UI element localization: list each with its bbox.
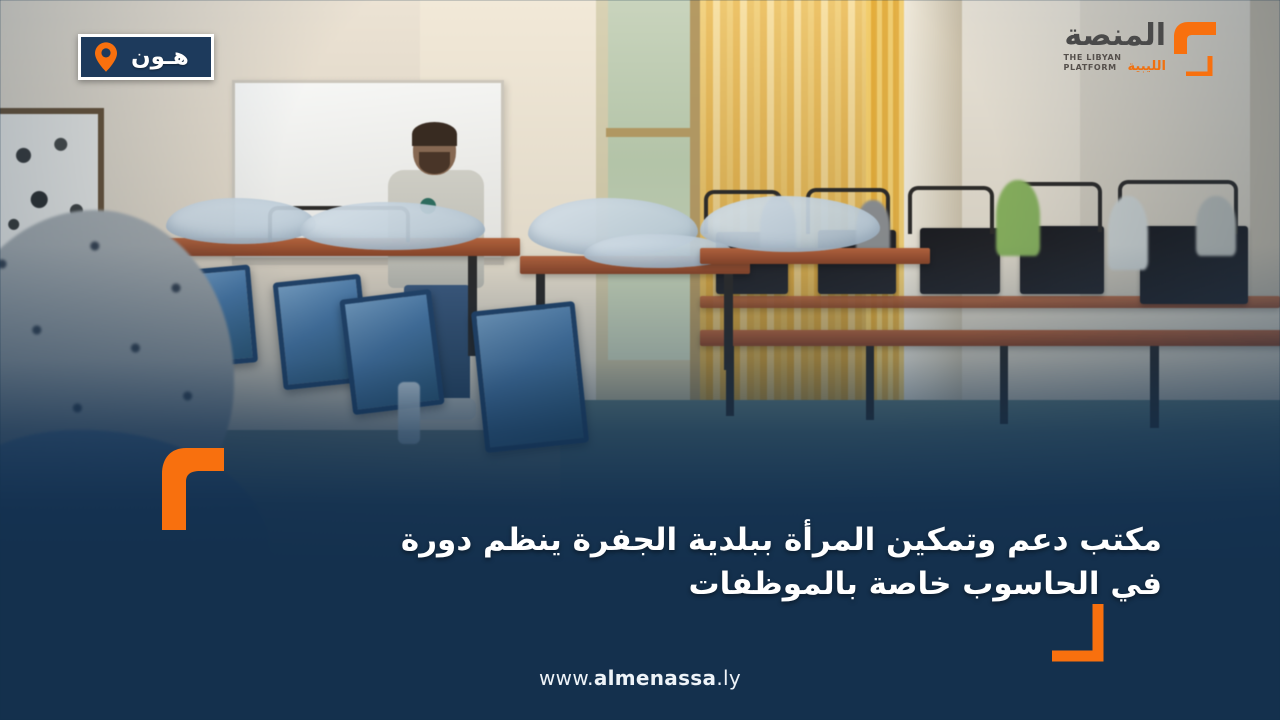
logo-arabic-sub: الليبية — [1128, 60, 1166, 73]
brand-logo: المنصة THE LIBYAN PLATFORM الليبية — [1063, 18, 1222, 76]
location-label: هـون — [131, 46, 189, 69]
location-badge: هـون — [78, 34, 214, 80]
url-prefix: www. — [539, 666, 594, 690]
quote-bracket-icon — [1170, 18, 1222, 76]
quote-close-icon — [1052, 604, 1112, 662]
logo-arabic-name: المنصة — [1064, 21, 1166, 51]
url-brand: almenassa — [594, 666, 717, 690]
news-card: هـون المنصة THE LIBYAN PLATFORM الليبية … — [0, 0, 1280, 720]
logo-english-name: THE LIBYAN PLATFORM — [1063, 53, 1121, 73]
headline: مكتب دعم وتمكين المرأة ببلدية الجفرة ينظ… — [242, 518, 1162, 606]
map-pin-icon — [95, 42, 117, 72]
quote-open-icon — [160, 446, 228, 532]
logo-wordmark: المنصة THE LIBYAN PLATFORM الليبية — [1063, 21, 1166, 73]
footer-website-url[interactable]: www.almenassa.ly — [0, 666, 1280, 690]
headline-line-2: في الحاسوب خاصة بالموظفات — [242, 562, 1162, 606]
headline-line-1: مكتب دعم وتمكين المرأة ببلدية الجفرة ينظ… — [401, 522, 1162, 558]
url-suffix: .ly — [716, 666, 741, 690]
